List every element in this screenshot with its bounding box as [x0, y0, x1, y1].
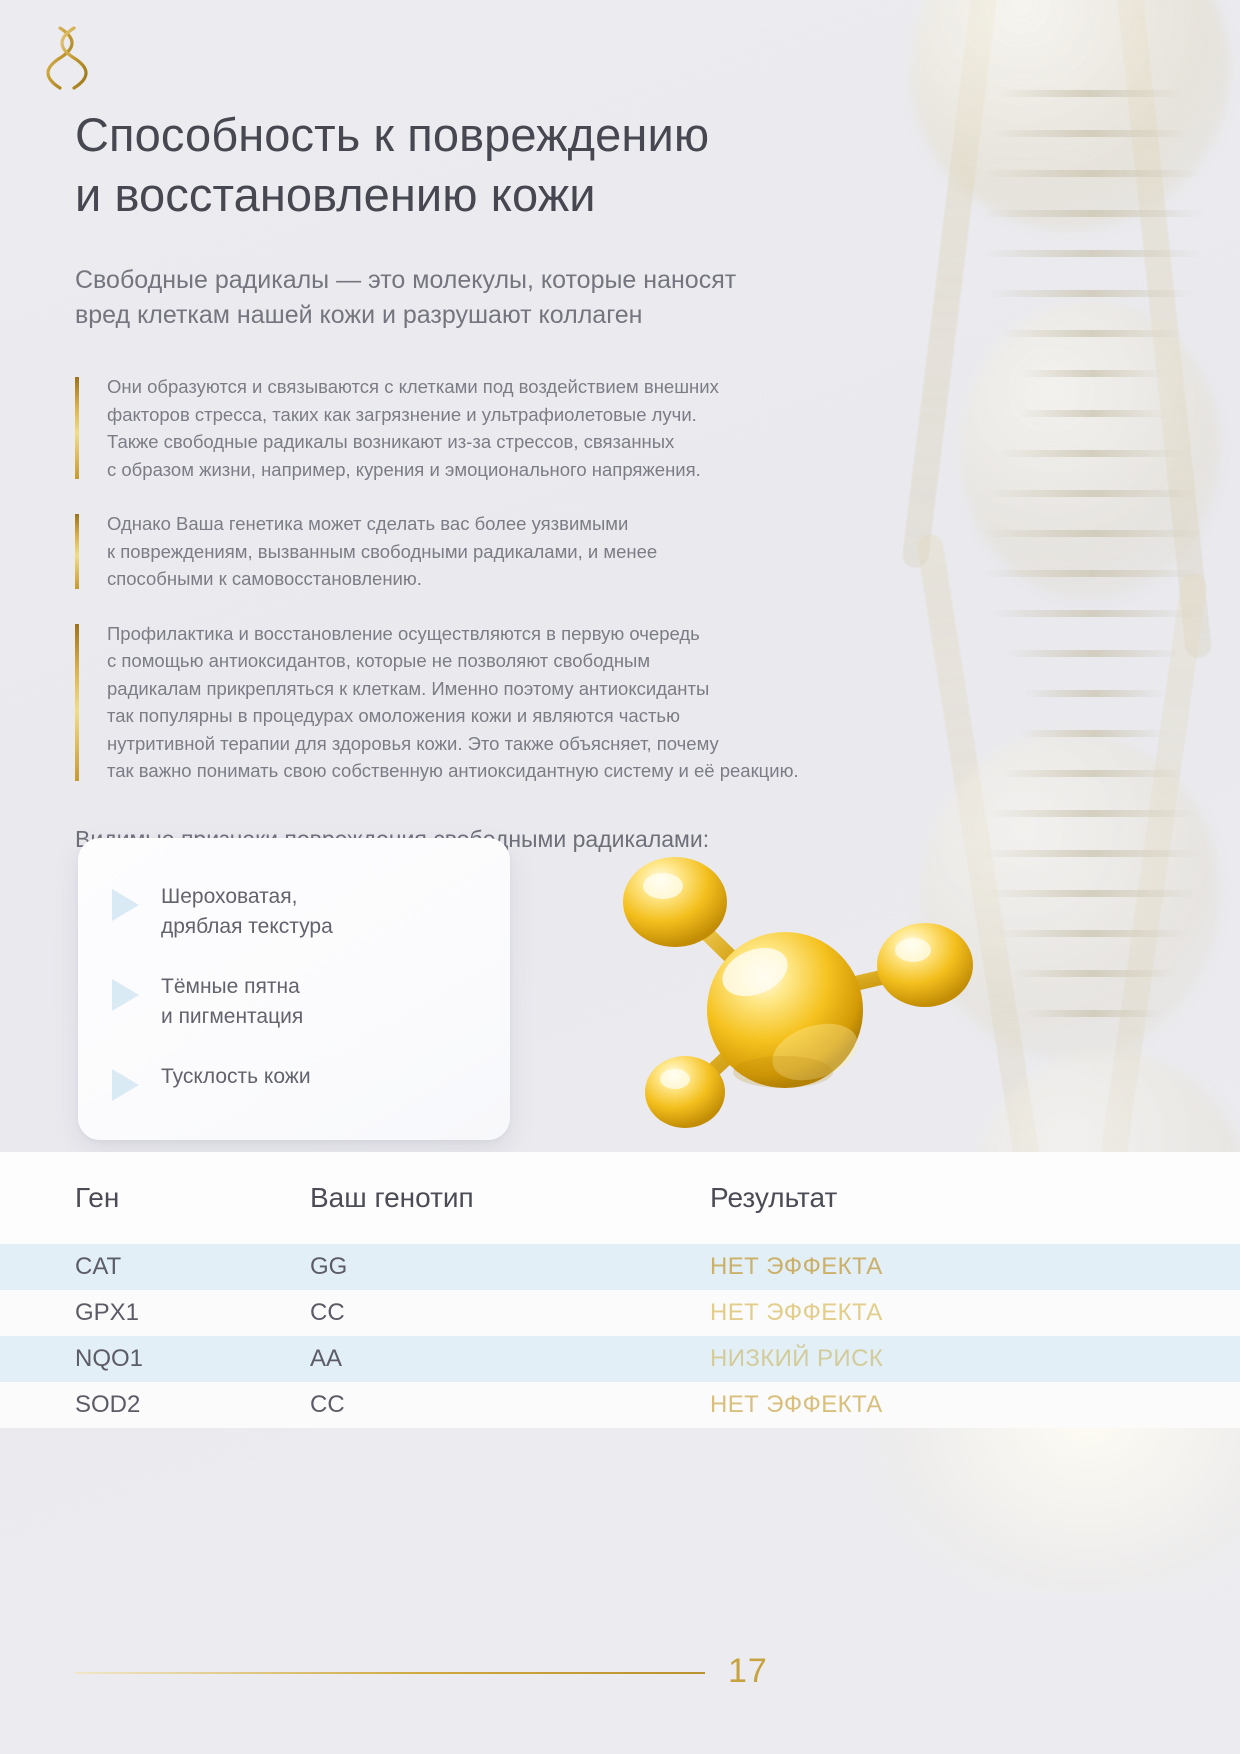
- page-subtitle: Свободные радикалы — это молекулы, котор…: [75, 263, 975, 333]
- footer-divider: [75, 1672, 705, 1674]
- cell-gene: NQO1: [0, 1345, 310, 1373]
- cell-gene: CAT: [0, 1253, 310, 1281]
- column-header-gene: Ген: [0, 1182, 310, 1214]
- play-triangle-icon: [112, 979, 139, 1011]
- paragraph-text: Они образуются и связываются с клетками …: [107, 373, 975, 483]
- cell-gene: SOD2: [0, 1391, 310, 1419]
- table-row: CAT GG НЕТ ЭФФЕКТА: [0, 1244, 1240, 1290]
- cell-genotype: CC: [310, 1391, 710, 1419]
- table-row: NQO1 AA НИЗКИЙ РИСК: [0, 1336, 1240, 1382]
- column-header-genotype: Ваш генотип: [310, 1182, 710, 1214]
- table-row: GPX1 CC НЕТ ЭФФЕКТА: [0, 1290, 1240, 1336]
- gold-molecule-illustration: [575, 820, 1005, 1150]
- page-title: Способность к повреждению и восстановлен…: [75, 105, 975, 225]
- cell-result: НЕТ ЭФФЕКТА: [710, 1253, 1240, 1281]
- paragraph-block: Они образуются и связываются с клетками …: [75, 373, 975, 483]
- list-item-label: Шероховатая, дряблая текстура: [161, 882, 333, 942]
- list-item-label: Тёмные пятна и пигментация: [161, 972, 303, 1032]
- page-footer: 17: [0, 1594, 1240, 1754]
- cell-result: НЕТ ЭФФЕКТА: [710, 1391, 1240, 1419]
- cell-genotype: GG: [310, 1253, 710, 1281]
- column-header-result: Результат: [710, 1182, 1240, 1214]
- table-header-row: Ген Ваш генотип Результат: [0, 1152, 1240, 1244]
- page-number: 17: [728, 1652, 768, 1691]
- cell-gene: GPX1: [0, 1299, 310, 1327]
- cell-result: НИЗКИЙ РИСК: [710, 1345, 1240, 1373]
- results-table: Ген Ваш генотип Результат CAT GG НЕТ ЭФФ…: [0, 1152, 1240, 1428]
- play-triangle-icon: [112, 1069, 139, 1101]
- report-page: Способность к повреждению и восстановлен…: [0, 0, 1240, 1754]
- cell-result: НЕТ ЭФФЕКТА: [710, 1299, 1240, 1327]
- content-column: Способность к повреждению и восстановлен…: [75, 0, 975, 855]
- cell-genotype: AA: [310, 1345, 710, 1373]
- table-row: SOD2 CC НЕТ ЭФФЕКТА: [0, 1382, 1240, 1428]
- paragraph-blocks: Они образуются и связываются с клетками …: [75, 373, 975, 785]
- paragraph-text: Профилактика и восстановление осуществля…: [107, 620, 975, 785]
- paragraph-text: Однако Ваша генетика может сделать вас б…: [107, 510, 975, 593]
- play-triangle-icon: [112, 889, 139, 921]
- visible-signs-card: Шероховатая, дряблая текстура Тёмные пят…: [78, 838, 510, 1140]
- list-item-label: Тусклость кожи: [161, 1062, 311, 1092]
- paragraph-block: Профилактика и восстановление осуществля…: [75, 620, 975, 785]
- cell-genotype: CC: [310, 1299, 710, 1327]
- list-item: Тусклость кожи: [110, 1062, 480, 1101]
- paragraph-block: Однако Ваша генетика может сделать вас б…: [75, 510, 975, 593]
- list-item: Шероховатая, дряблая текстура: [110, 882, 480, 942]
- list-item: Тёмные пятна и пигментация: [110, 972, 480, 1032]
